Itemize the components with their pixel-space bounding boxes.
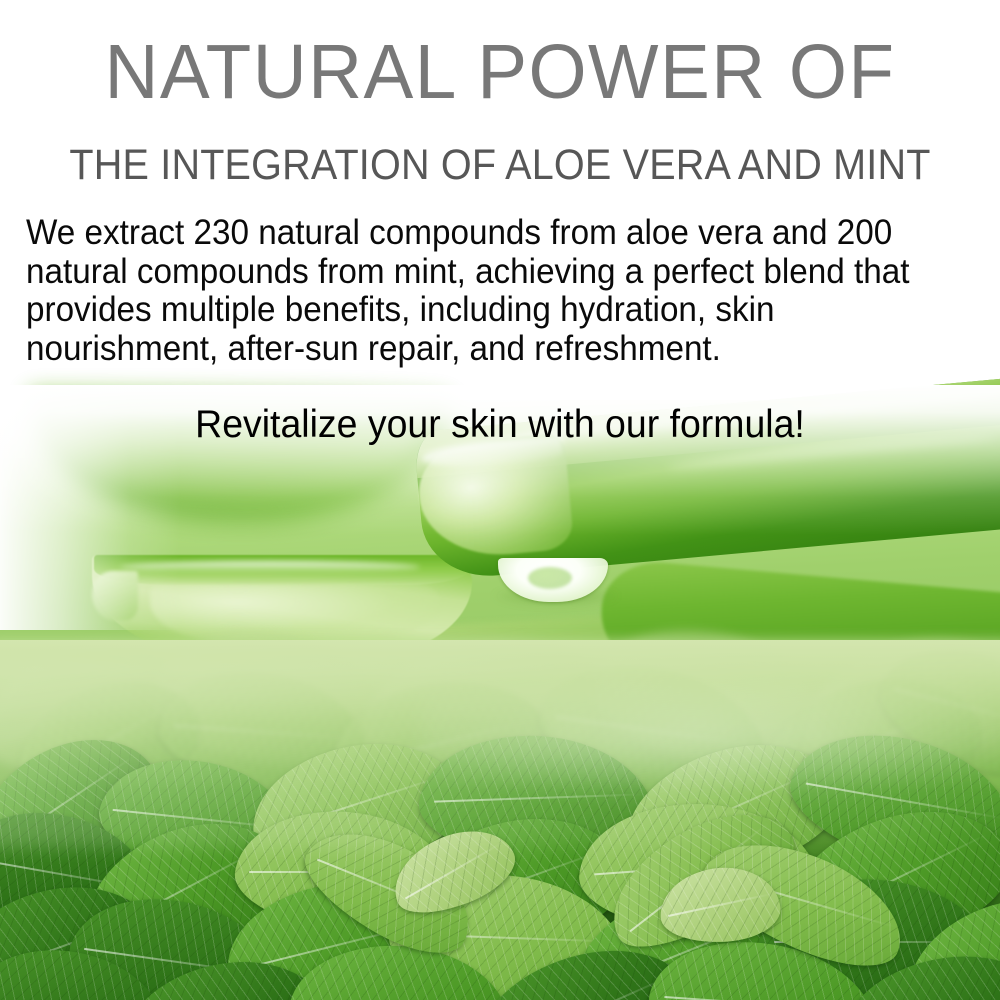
page-title: NATURAL POWER OF (15, 34, 985, 111)
product-poster: NATURAL POWER OF THE INTEGRATION OF ALOE… (0, 0, 1000, 1000)
body-paragraph: We extract 230 natural compounds from al… (26, 214, 930, 368)
page-subtitle: THE INTEGRATION OF ALOE VERA AND MINT (40, 144, 960, 187)
tagline: Revitalize your skin with our formula! (20, 404, 980, 447)
text-content: NATURAL POWER OF THE INTEGRATION OF ALOE… (0, 0, 1000, 1000)
